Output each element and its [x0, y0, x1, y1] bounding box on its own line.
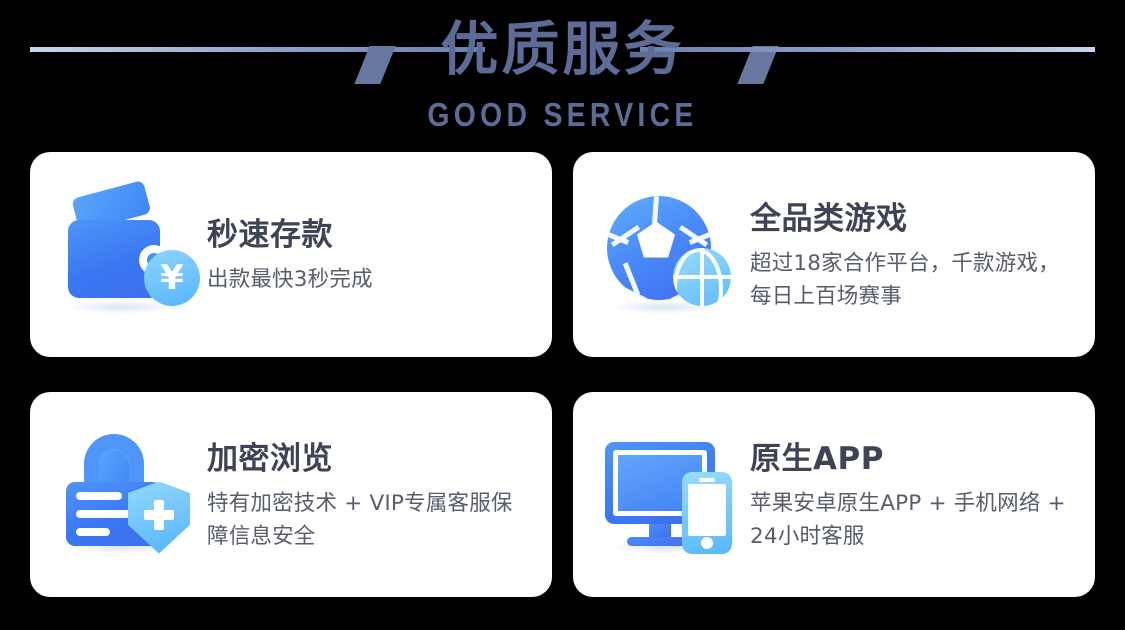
feature-card-games[interactable]: 全品类游戏 超过18家合作平台，千款游戏，每日上百场赛事 [573, 152, 1095, 357]
feature-card-text: 原生APP 苹果安卓原生APP + 手机网络 + 24小时客服 [750, 437, 1077, 553]
feature-card-text: 全品类游戏 超过18家合作平台，千款游戏，每日上百场赛事 [750, 197, 1077, 313]
good-service-panel: 优质服务 GOOD SERVICE ¥ 秒速存款 出款最快3秒完成 [0, 0, 1125, 630]
feature-card-title: 全品类游戏 [750, 199, 1077, 239]
feature-card-text: 秒速存款 出款最快3秒完成 [207, 213, 373, 296]
feature-card-title: 原生APP [750, 439, 1077, 479]
section-title-en: GOOD SERVICE [79, 97, 1047, 133]
feature-card-encryption[interactable]: 加密浏览 特有加密技术 + VIP专属客服保障信息安全 [30, 392, 552, 597]
phone-speaker [699, 478, 715, 482]
monitor-neck [649, 524, 671, 538]
section-header: 优质服务 GOOD SERVICE [0, 0, 1125, 140]
phone-screen [688, 484, 726, 536]
yen-symbol: ¥ [160, 261, 184, 295]
feature-card-desc: 苹果安卓原生APP + 手机网络 + 24小时客服 [750, 487, 1077, 553]
phone-home-button [701, 537, 713, 549]
wallet-with-yen-coin-icon: ¥ [56, 190, 201, 320]
padlock-with-shield-plus-icon [56, 430, 201, 560]
feature-card-text: 加密浏览 特有加密技术 + VIP专属客服保障信息安全 [207, 437, 534, 553]
feature-card-deposit[interactable]: ¥ 秒速存款 出款最快3秒完成 [30, 152, 552, 357]
feature-card-grid: ¥ 秒速存款 出款最快3秒完成 [30, 152, 1095, 597]
soccer-center-pentagon [637, 222, 675, 258]
feature-card-desc: 出款最快3秒完成 [207, 263, 373, 296]
lock-slot [76, 528, 110, 536]
monitor-with-phone-icon [599, 430, 744, 560]
soccer-seam [652, 196, 659, 224]
yen-coin-badge: ¥ [144, 250, 200, 306]
feature-card-title: 加密浏览 [207, 439, 534, 479]
feature-card-desc: 超过18家合作平台，千款游戏，每日上百场赛事 [750, 247, 1077, 313]
feature-card-native-app[interactable]: 原生APP 苹果安卓原生APP + 手机网络 + 24小时客服 [573, 392, 1095, 597]
lock-slot [76, 492, 122, 500]
feature-card-desc: 特有加密技术 + VIP专属客服保障信息安全 [207, 487, 534, 553]
feature-card-title: 秒速存款 [207, 215, 373, 255]
soccer-ball-with-basketball-icon [599, 190, 744, 320]
mobile-phone [682, 472, 732, 554]
plus-icon [144, 500, 174, 530]
section-title-cn: 优质服务 [0, 6, 1125, 92]
basketball-line [673, 275, 731, 279]
basketball [673, 248, 731, 306]
